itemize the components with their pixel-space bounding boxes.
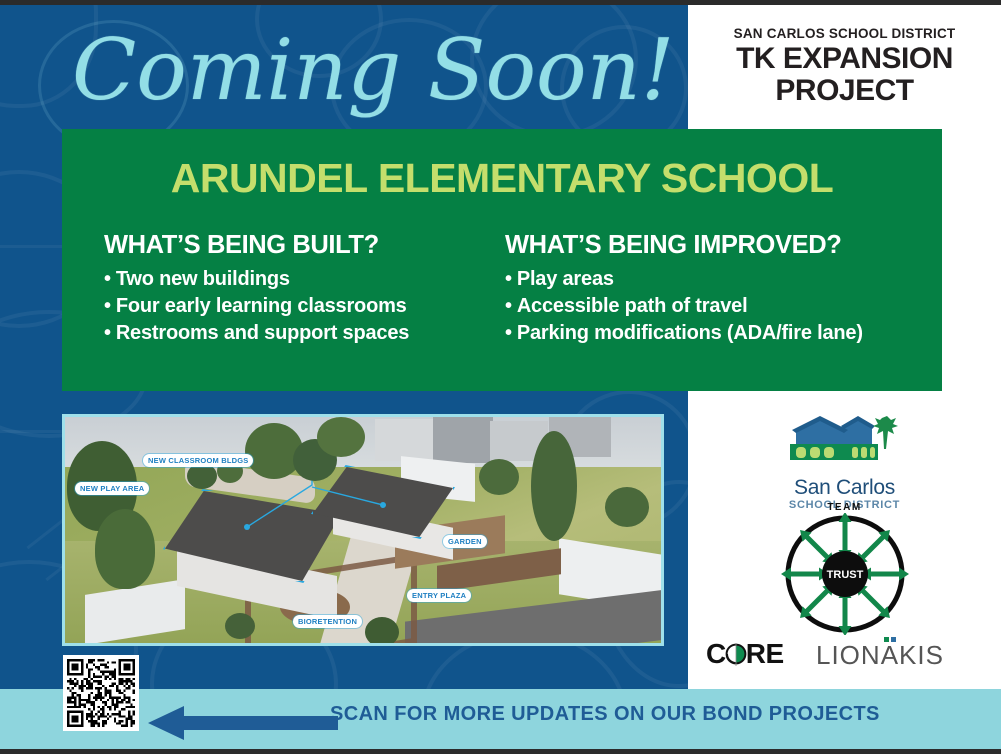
district-name-header: SAN CARLOS SCHOOL DISTRICT [688, 26, 1001, 41]
whats-being-improved-column: WHAT’S BEING IMPROVED? Play areas Access… [505, 231, 935, 348]
trust-circle-icon: TRUST [775, 513, 915, 635]
project-title-line1: TK EXPANSION [688, 44, 1001, 73]
project-header: SAN CARLOS SCHOOL DISTRICT TK EXPANSION … [688, 26, 1001, 105]
map-label-new-play-area: NEW PLAY AREA [75, 482, 149, 495]
tree [605, 487, 649, 527]
core-logo-prefix: C [706, 638, 726, 669]
list-item: Parking modifications (ADA/fire lane) [505, 320, 935, 347]
left-arrow-icon [148, 706, 338, 740]
built-list: Two new buildings Four early learning cl… [104, 266, 504, 348]
lionakis-macron-squares-icon [884, 637, 898, 643]
lionakis-logo-a: A [881, 640, 899, 670]
coming-soon-headline: Coming Soon! [72, 18, 672, 123]
team-label: TEAM [688, 502, 1001, 513]
partner-logos: C RE LIONAKIS [688, 638, 1001, 680]
whats-being-built-column: WHAT’S BEING BUILT? Two new buildings Fo… [104, 231, 504, 348]
lionakis-logo-pre: LION [816, 640, 881, 670]
map-label-bioretention: BIORETENTION [293, 615, 362, 628]
core-logo-suffix: RE [746, 638, 784, 669]
list-item: Play areas [505, 266, 935, 293]
school-name-title: ARUNDEL ELEMENTARY SCHOOL [62, 155, 942, 202]
core-logo: C RE [706, 638, 784, 670]
lionakis-logo: LIONAKIS [816, 640, 944, 671]
poster-root: Coming Soon! SAN CARLOS SCHOOL DISTRICT … [0, 0, 1001, 754]
trust-center-label: TRUST [827, 569, 864, 581]
project-title-line2: PROJECT [688, 76, 1001, 105]
improved-list: Play areas Accessible path of travel Par… [505, 266, 935, 348]
tree [365, 617, 399, 646]
lionakis-a-letter: A [881, 640, 899, 670]
list-item: Accessible path of travel [505, 293, 935, 320]
tree [317, 417, 365, 457]
district-logo-name: San Carlos [688, 476, 1001, 500]
map-label-garden: GARDEN [443, 535, 487, 548]
column-heading-improved: WHAT’S BEING IMPROVED? [505, 231, 935, 260]
tree [479, 459, 519, 495]
list-item: Restrooms and support spaces [104, 320, 504, 347]
column-heading-built: WHAT’S BEING BUILT? [104, 231, 504, 260]
tree [95, 509, 155, 589]
tree [225, 613, 255, 639]
qr-code[interactable] [63, 655, 139, 731]
bottom-edge-bar [0, 749, 1001, 754]
qr-code-image[interactable] [67, 659, 135, 727]
core-logo-circle-icon [725, 643, 747, 666]
district-logo: San Carlos SCHOOL DISTRICT [688, 416, 1001, 511]
team-trust-diagram: TRUST [775, 513, 915, 635]
schoolhouse-icon [786, 416, 904, 468]
list-item: Two new buildings [104, 266, 504, 293]
scan-banner-text: SCAN FOR MORE UPDATES ON OUR BOND PROJEC… [330, 703, 970, 726]
information-panel: ARUNDEL ELEMENTARY SCHOOL WHAT’S BEING B… [62, 129, 942, 391]
lionakis-logo-post: KIS [899, 640, 944, 670]
tree [531, 431, 577, 541]
site-rendering-image: NEW CLASSROOM BLDGS NEW PLAY AREA GARDEN… [62, 414, 664, 646]
map-label-new-classroom-bldgs: NEW CLASSROOM BLDGS [143, 454, 253, 467]
context-building [433, 417, 493, 463]
map-label-entry-plaza: ENTRY PLAZA [407, 589, 471, 602]
list-item: Four early learning classrooms [104, 293, 504, 320]
